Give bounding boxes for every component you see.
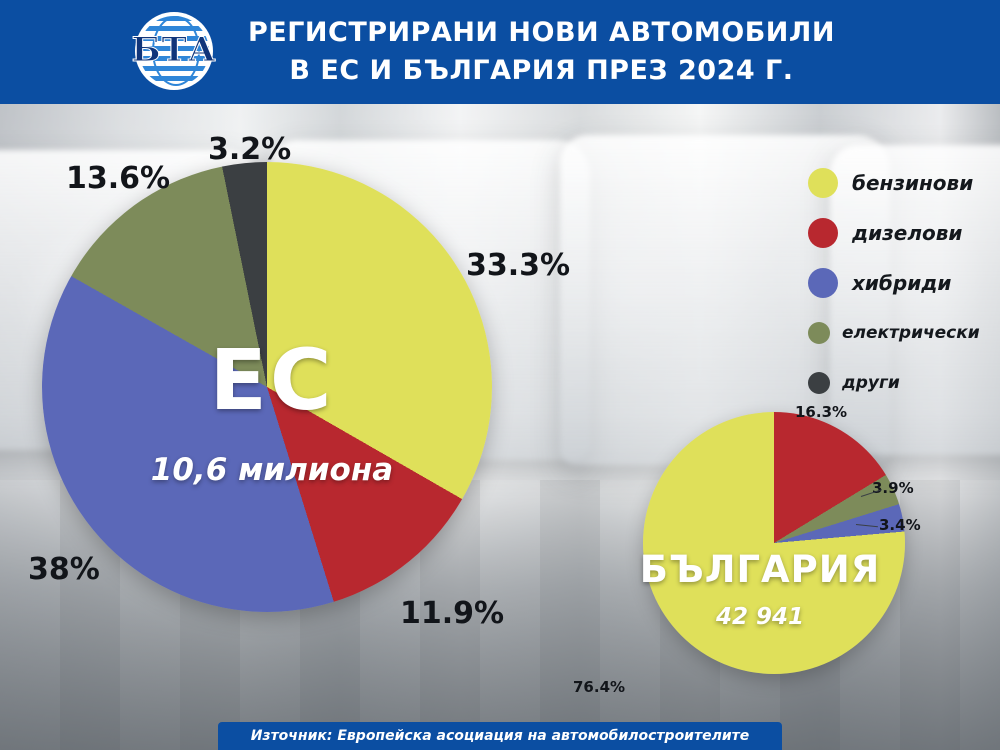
eu-label-electric: 13.6%	[66, 161, 170, 196]
header-bar: БТА РЕГИСТРИРАНИ НОВИ АВТОМОБИЛИ В ЕС И …	[0, 0, 1000, 104]
legend-swatch-other	[808, 372, 830, 394]
bg-label-hybrid: 3.4%	[879, 516, 921, 534]
bta-logo: БТА	[122, 10, 226, 94]
legend-label-diesel: дизелови	[852, 221, 962, 245]
legend-label-electric: електрически	[842, 323, 980, 343]
legend-item-other[interactable]: други	[808, 358, 998, 408]
eu-label-diesel: 11.9%	[400, 596, 504, 631]
eu-label-hybrid: 38%	[28, 552, 100, 587]
eu-pie-chart	[42, 162, 492, 612]
legend-label-petrol: бензинови	[852, 171, 973, 195]
eu-label-other: 3.2%	[208, 132, 291, 167]
legend-item-electric[interactable]: електрически	[808, 308, 998, 358]
legend-item-hybrid[interactable]: хибриди	[808, 258, 998, 308]
legend-swatch-hybrid	[808, 268, 838, 298]
infographic-page: БТА РЕГИСТРИРАНИ НОВИ АВТОМОБИЛИ В ЕС И …	[0, 0, 1000, 750]
bta-logo-text: БТА	[122, 30, 226, 70]
eu-label-petrol: 33.3%	[466, 248, 570, 283]
legend-item-diesel[interactable]: дизелови	[808, 208, 998, 258]
header-title-block: РЕГИСТРИРАНИ НОВИ АВТОМОБИЛИ В ЕС И БЪЛГ…	[248, 14, 835, 90]
legend: бензинови дизелови хибриди електрически …	[808, 158, 998, 408]
legend-swatch-petrol	[808, 168, 838, 198]
page-title-line-2: В ЕС И БЪЛГАРИЯ ПРЕЗ 2024 Г.	[248, 52, 835, 90]
bg-label-petrol: 76.4%	[573, 678, 625, 696]
legend-swatch-electric	[808, 322, 830, 344]
bg-label-electric: 3.9%	[872, 479, 914, 497]
page-title-line-1: РЕГИСТРИРАНИ НОВИ АВТОМОБИЛИ	[248, 14, 835, 52]
legend-label-other: други	[842, 373, 900, 393]
legend-label-hybrid: хибриди	[852, 271, 951, 295]
bg-pie-chart	[643, 412, 905, 674]
legend-item-petrol[interactable]: бензинови	[808, 158, 998, 208]
source-footer: Източник: Европейска асоциация на автомо…	[218, 722, 782, 750]
legend-swatch-diesel	[808, 218, 838, 248]
